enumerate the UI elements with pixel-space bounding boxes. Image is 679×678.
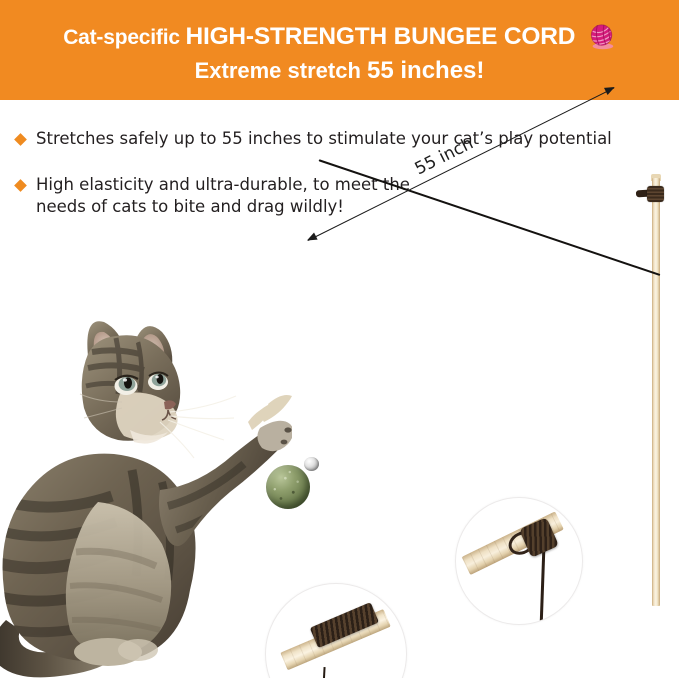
header-banner: Cat-specific HIGH-STRENGTH BUNGEE CORD: [0, 0, 679, 100]
measurement-arrow: 55 inch: [308, 87, 615, 240]
kitten-front-leg: [159, 395, 292, 546]
banner-stretch-value: 55: [367, 57, 394, 84]
banner-subline-suffix: inches!: [394, 57, 485, 84]
banner-subline-prefix: Extreme stretch: [195, 58, 367, 83]
measurement-arrow-shaft: [308, 87, 615, 241]
cord-knot-at-wand-tip: [647, 186, 664, 202]
cord-tail: [540, 550, 545, 624]
product-infographic: Cat-specific HIGH-STRENGTH BUNGEE CORD: [0, 0, 679, 678]
kitten-eye-right: [148, 373, 168, 391]
product-photo-area: 55 inch: [0, 100, 679, 678]
banner-headline-line2: Extreme stretch 55 inches!: [0, 57, 679, 85]
wooden-wand-stick: [652, 178, 660, 606]
banner-headline-line1: Cat-specific HIGH-STRENGTH BUNGEE CORD: [0, 22, 679, 51]
yarn-ball-icon: [588, 22, 616, 50]
banner-headline-main: HIGH-STRENGTH BUNGEE CORD: [185, 23, 575, 50]
banner-headline-prefix: Cat-specific: [63, 26, 185, 49]
kitten-photo: [0, 290, 292, 678]
cord-bead: [304, 457, 319, 471]
kitten-body: [0, 454, 196, 666]
inset-cord-attachment-detail: [455, 497, 583, 625]
cord-tail: [320, 667, 326, 678]
bungee-cord-line: [318, 159, 660, 276]
kitten-head: [80, 321, 236, 458]
